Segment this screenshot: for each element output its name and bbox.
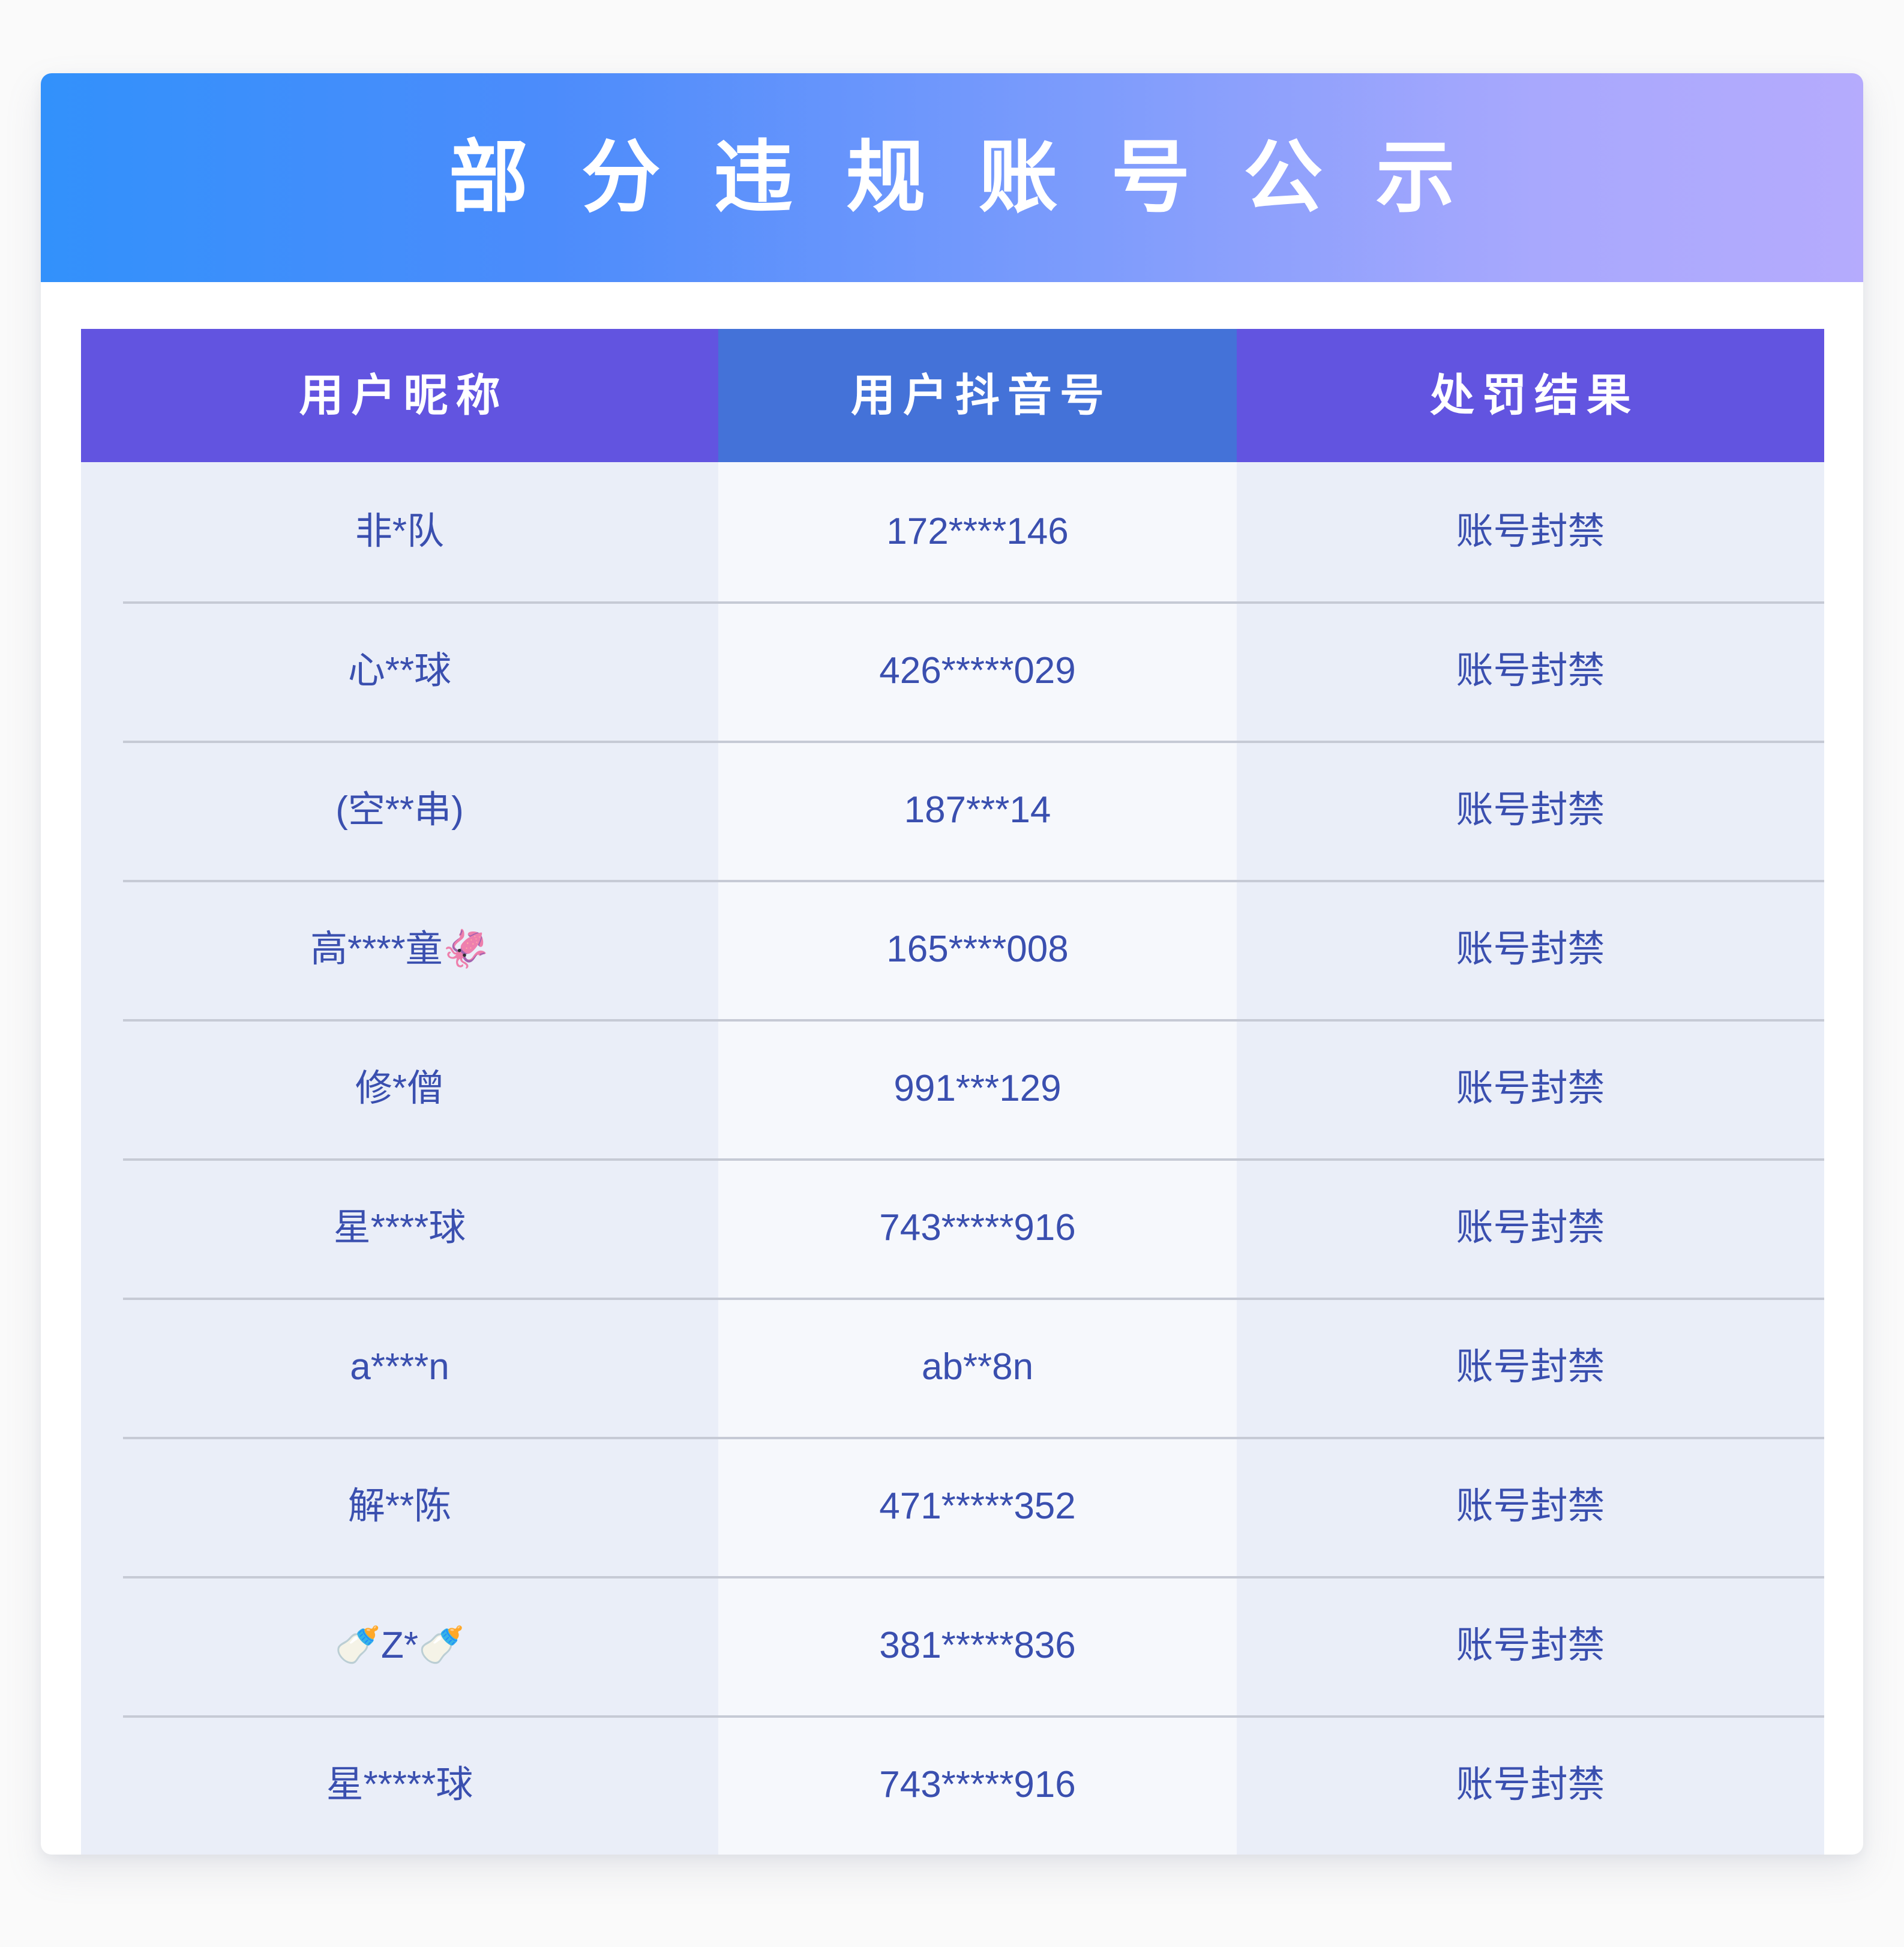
table-row: a****n ab**8n 账号封禁 [81,1298,1824,1437]
cell-nickname: 心**球 [81,601,718,741]
column-header-douyin-id: 用户抖音号 [718,329,1237,462]
cell-nickname: a****n [81,1298,718,1437]
cell-douyin-id: 172****146 [718,462,1237,601]
cell-penalty: 账号封禁 [1237,1715,1824,1855]
table-row: 星****球 743*****916 账号封禁 [81,1158,1824,1298]
cell-nickname: 修*僧 [81,1019,718,1158]
table-row: 星*****球 743*****916 账号封禁 [81,1715,1824,1855]
cell-nickname: (空**串) [81,741,718,880]
cell-penalty: 账号封禁 [1237,741,1824,880]
page-title: 部 分 违 规 账 号 公 示 [433,138,1471,217]
cell-penalty: 账号封禁 [1237,462,1824,601]
cell-penalty: 账号封禁 [1237,1158,1824,1298]
page-root: 部 分 违 规 账 号 公 示 用户昵称 用户抖音号 处罚结果 非*队 172*… [0,0,1904,1947]
cell-penalty: 账号封禁 [1237,880,1824,1019]
cell-douyin-id: 165****008 [718,880,1237,1019]
cell-douyin-id: 471*****352 [718,1437,1237,1576]
cell-douyin-id: ab**8n [718,1298,1237,1437]
table-row: 解**陈 471*****352 账号封禁 [81,1437,1824,1576]
table-body: 非*队 172****146 账号封禁 心**球 426*****029 账号封… [81,462,1824,1855]
cell-penalty: 账号封禁 [1237,1437,1824,1576]
cell-douyin-id: 991***129 [718,1019,1237,1158]
table-row: 高****童🦑 165****008 账号封禁 [81,880,1824,1019]
table-row: (空**串) 187***14 账号封禁 [81,741,1824,880]
column-header-penalty: 处罚结果 [1237,329,1824,462]
cell-douyin-id: 381*****836 [718,1576,1237,1715]
table-header-row: 用户昵称 用户抖音号 处罚结果 [81,329,1824,462]
cell-penalty: 账号封禁 [1237,1576,1824,1715]
cell-penalty: 账号封禁 [1237,1298,1824,1437]
cell-penalty: 账号封禁 [1237,601,1824,741]
table-row: 🍼Z*🍼 381*****836 账号封禁 [81,1576,1824,1715]
table-row: 心**球 426*****029 账号封禁 [81,601,1824,741]
cell-douyin-id: 743*****916 [718,1158,1237,1298]
cell-nickname: 解**陈 [81,1437,718,1576]
cell-nickname: 星****球 [81,1158,718,1298]
table-row: 非*队 172****146 账号封禁 [81,462,1824,601]
announcement-card: 部 分 违 规 账 号 公 示 用户昵称 用户抖音号 处罚结果 非*队 172*… [41,73,1863,1855]
cell-douyin-id: 187***14 [718,741,1237,880]
cell-nickname: 非*队 [81,462,718,601]
cell-penalty: 账号封禁 [1237,1019,1824,1158]
banner-header: 部 分 违 规 账 号 公 示 [41,73,1863,282]
column-header-nickname: 用户昵称 [81,329,718,462]
table-row: 修*僧 991***129 账号封禁 [81,1019,1824,1158]
cell-douyin-id: 743*****916 [718,1715,1237,1855]
cell-nickname: 🍼Z*🍼 [81,1576,718,1715]
cell-nickname: 星*****球 [81,1715,718,1855]
violation-accounts-table: 用户昵称 用户抖音号 处罚结果 非*队 172****146 账号封禁 心**球… [81,329,1824,1855]
cell-nickname: 高****童🦑 [81,880,718,1019]
cell-douyin-id: 426*****029 [718,601,1237,741]
